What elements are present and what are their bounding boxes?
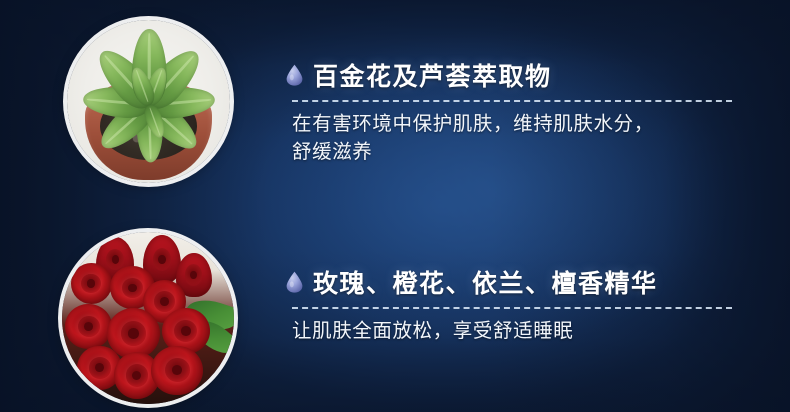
rose-bloom bbox=[71, 263, 112, 304]
rose-bloom bbox=[151, 346, 203, 396]
water-drop-icon bbox=[286, 271, 303, 293]
water-drop-icon bbox=[286, 64, 303, 86]
body-line: 让肌肤全面放松，享受舒适睡眠 bbox=[292, 318, 756, 346]
section-floral-essence: 玫瑰、橙花、依兰、檀香精华 让肌肤全面放松，享受舒适睡眠 bbox=[286, 262, 756, 346]
promo-poster: 百金花及芦荟萃取物 在有害环境中保护肌肤，维持肌肤水分， 舒缓滋养 bbox=[0, 0, 790, 412]
section-body: 在有害环境中保护肌肤，维持肌肤水分， 舒缓滋养 bbox=[292, 111, 756, 166]
heading-row: 玫瑰、橙花、依兰、檀香精华 bbox=[286, 262, 756, 302]
section-body: 让肌肤全面放松，享受舒适睡眠 bbox=[292, 318, 756, 346]
body-line: 在有害环境中保护肌肤，维持肌肤水分， bbox=[292, 111, 756, 139]
rose-bloom bbox=[65, 304, 111, 349]
heading-row: 百金花及芦荟萃取物 bbox=[286, 55, 756, 95]
dashed-divider bbox=[292, 307, 732, 309]
dashed-divider bbox=[292, 100, 732, 102]
body-line: 舒缓滋养 bbox=[292, 139, 756, 167]
aloe-plant-photo bbox=[67, 20, 230, 183]
red-roses-photo bbox=[62, 232, 234, 404]
section-heading: 百金花及芦荟萃取物 bbox=[313, 57, 552, 93]
section-heading: 玫瑰、橙花、依兰、檀香精华 bbox=[313, 264, 658, 300]
section-botanical-extract: 百金花及芦荟萃取物 在有害环境中保护肌肤，维持肌肤水分， 舒缓滋养 bbox=[286, 55, 756, 166]
